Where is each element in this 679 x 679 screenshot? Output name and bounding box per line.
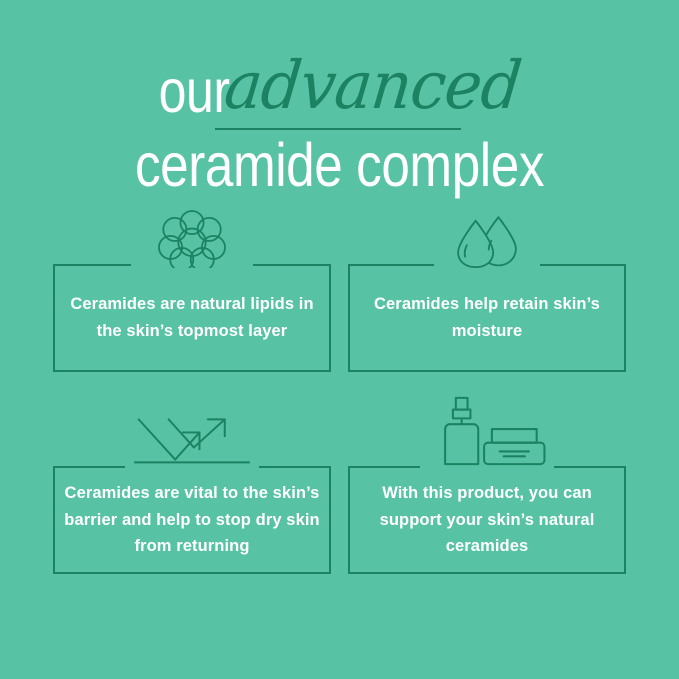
benefit-card-grid: Ceramides are natural lipids in the skin… xyxy=(53,228,626,576)
title-word-advanced: advanced xyxy=(222,53,524,119)
benefit-card-text: Ceramides help retain skin’s moisture xyxy=(348,264,626,372)
benefit-card-text: Ceramides are vital to the skin’s barrie… xyxy=(53,466,331,574)
benefit-card-support-ceramides: With this product, you can support your … xyxy=(348,466,626,574)
rebound-arrows-icon xyxy=(127,410,257,468)
water-drops-icon xyxy=(428,216,546,268)
title-word-our: our xyxy=(158,61,229,122)
flower-rosette-icon xyxy=(133,212,251,268)
title-script-underline xyxy=(215,128,461,130)
benefit-card-skin-barrier: Ceramides are vital to the skin’s barrie… xyxy=(53,466,331,574)
benefit-card-natural-lipids: Ceramides are natural lipids in the skin… xyxy=(53,264,331,372)
benefit-card-text: Ceramides are natural lipids in the skin… xyxy=(53,264,331,372)
benefit-card-text: With this product, you can support your … xyxy=(348,466,626,574)
title-line-two: ceramide complex xyxy=(54,133,624,197)
advanced-ceramide-complex-poster: ouradvanced ceramide complex xyxy=(0,0,679,679)
bottle-and-jar-icon xyxy=(420,396,554,468)
title-line-one: ouradvanced xyxy=(0,47,679,121)
page-title: ouradvanced ceramide complex xyxy=(0,47,679,197)
benefit-card-retain-moisture: Ceramides help retain skin’s moisture xyxy=(348,264,626,372)
